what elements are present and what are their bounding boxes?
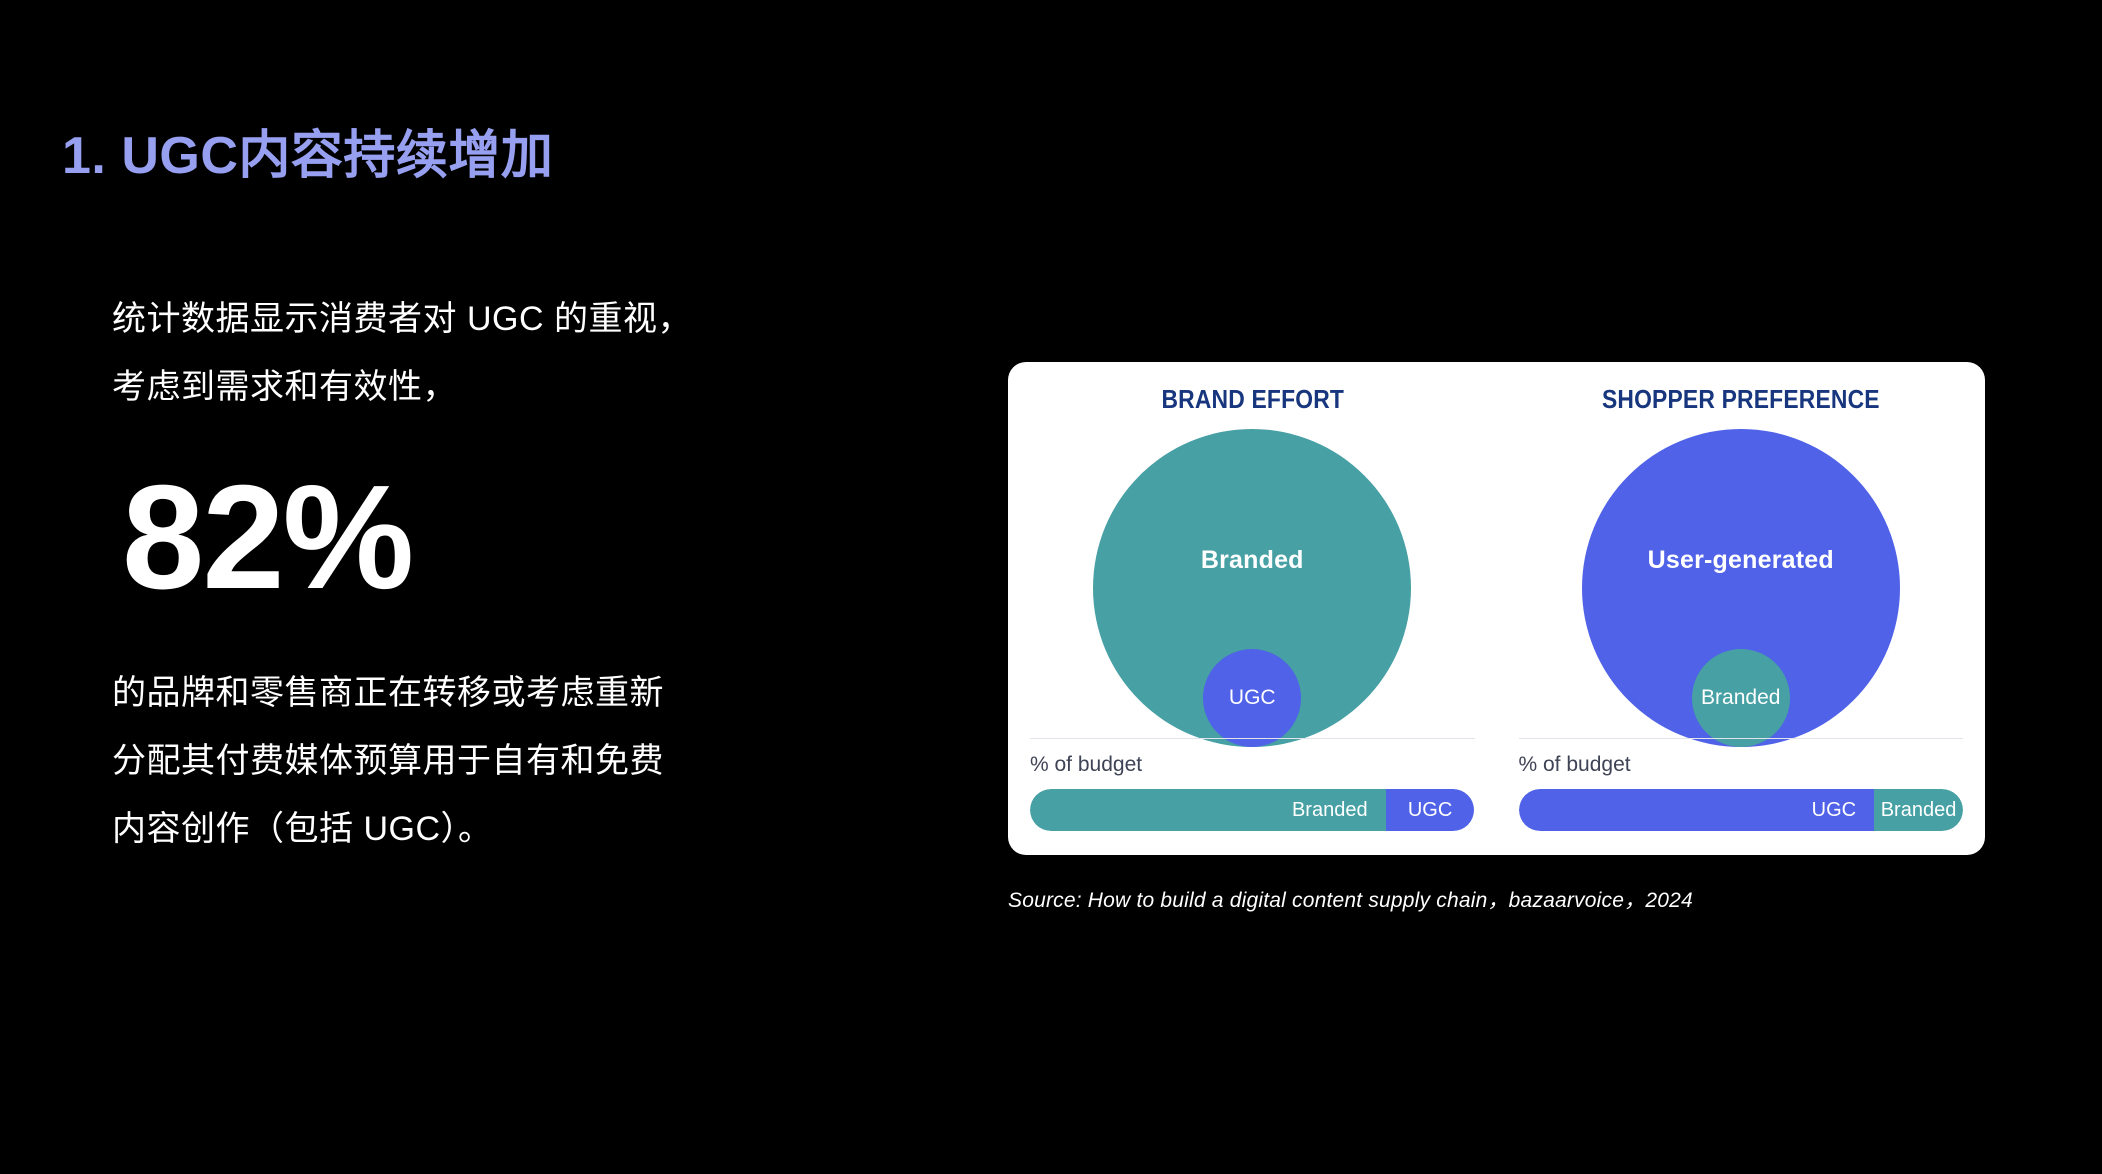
page-title: 1. UGC内容持续增加 — [62, 113, 553, 188]
venn-diagram-shopper-preference: User-generated Branded — [1576, 429, 1906, 759]
circle-user-generated-large-label: User-generated — [1648, 546, 1834, 575]
budget-bar-brand-effort: Branded UGC — [1030, 789, 1475, 831]
budget-bar-shopper-preference: UGC Branded — [1519, 789, 1964, 831]
outro-line-1: 的品牌和零售商正在转移或考虑重新 — [112, 659, 842, 727]
budget-segment-ugc: UGC — [1386, 789, 1475, 831]
panel-brand-effort: BRAND EFFORT Branded UGC % of budget Bra… — [1008, 362, 1497, 855]
budget-segment-ugc-label: UGC — [1812, 799, 1856, 822]
infographic-panels: BRAND EFFORT Branded UGC % of budget Bra… — [1008, 362, 1985, 855]
left-text-column: 统计数据显示消费者对 UGC 的重视， 考虑到需求和有效性， 82% 的品牌和零… — [112, 285, 842, 863]
circle-ugc-small-label: UGC — [1229, 686, 1276, 710]
budget-segment-branded-label: Branded — [1292, 799, 1368, 822]
budget-block-shopper-preference: % of budget UGC Branded — [1519, 738, 1964, 831]
budget-divider — [1519, 738, 1964, 739]
budget-caption-brand-effort: % of budget — [1030, 753, 1475, 777]
intro-line-2: 考虑到需求和有效性， — [112, 353, 842, 421]
circle-ugc-small: UGC — [1203, 649, 1301, 747]
intro-line-1: 统计数据显示消费者对 UGC 的重视， — [112, 285, 842, 353]
venn-diagram-brand-effort: Branded UGC — [1087, 429, 1417, 759]
budget-segment-branded-label: Branded — [1881, 799, 1957, 822]
budget-divider — [1030, 738, 1475, 739]
source-citation: Source: How to build a digital content s… — [1008, 884, 1693, 914]
budget-segment-branded: Branded — [1030, 789, 1386, 831]
outro-line-3: 内容创作（包括 UGC）。 — [112, 795, 842, 863]
panel-shopper-preference: SHOPPER PREFERENCE User-generated Brande… — [1497, 362, 1986, 855]
headline-statistic: 82% — [122, 463, 842, 613]
intro-paragraph: 统计数据显示消费者对 UGC 的重视， 考虑到需求和有效性， — [112, 285, 842, 421]
circle-branded-small: Branded — [1692, 649, 1790, 747]
circle-branded-large-label: Branded — [1201, 546, 1304, 575]
outro-paragraph: 的品牌和零售商正在转移或考虑重新 分配其付费媒体预算用于自有和免费 内容创作（包… — [112, 659, 842, 863]
circle-branded-small-label: Branded — [1701, 686, 1780, 710]
budget-segment-ugc-label: UGC — [1408, 799, 1452, 822]
budget-segment-branded: Branded — [1874, 789, 1963, 831]
infographic-card: BRAND EFFORT Branded UGC % of budget Bra… — [1008, 362, 1985, 855]
panel-heading-brand-effort: BRAND EFFORT — [1161, 384, 1344, 415]
panel-heading-shopper-preference: SHOPPER PREFERENCE — [1602, 384, 1880, 415]
outro-line-2: 分配其付费媒体预算用于自有和免费 — [112, 727, 842, 795]
budget-segment-ugc: UGC — [1519, 789, 1875, 831]
budget-block-brand-effort: % of budget Branded UGC — [1030, 738, 1475, 831]
budget-caption-shopper-preference: % of budget — [1519, 753, 1964, 777]
